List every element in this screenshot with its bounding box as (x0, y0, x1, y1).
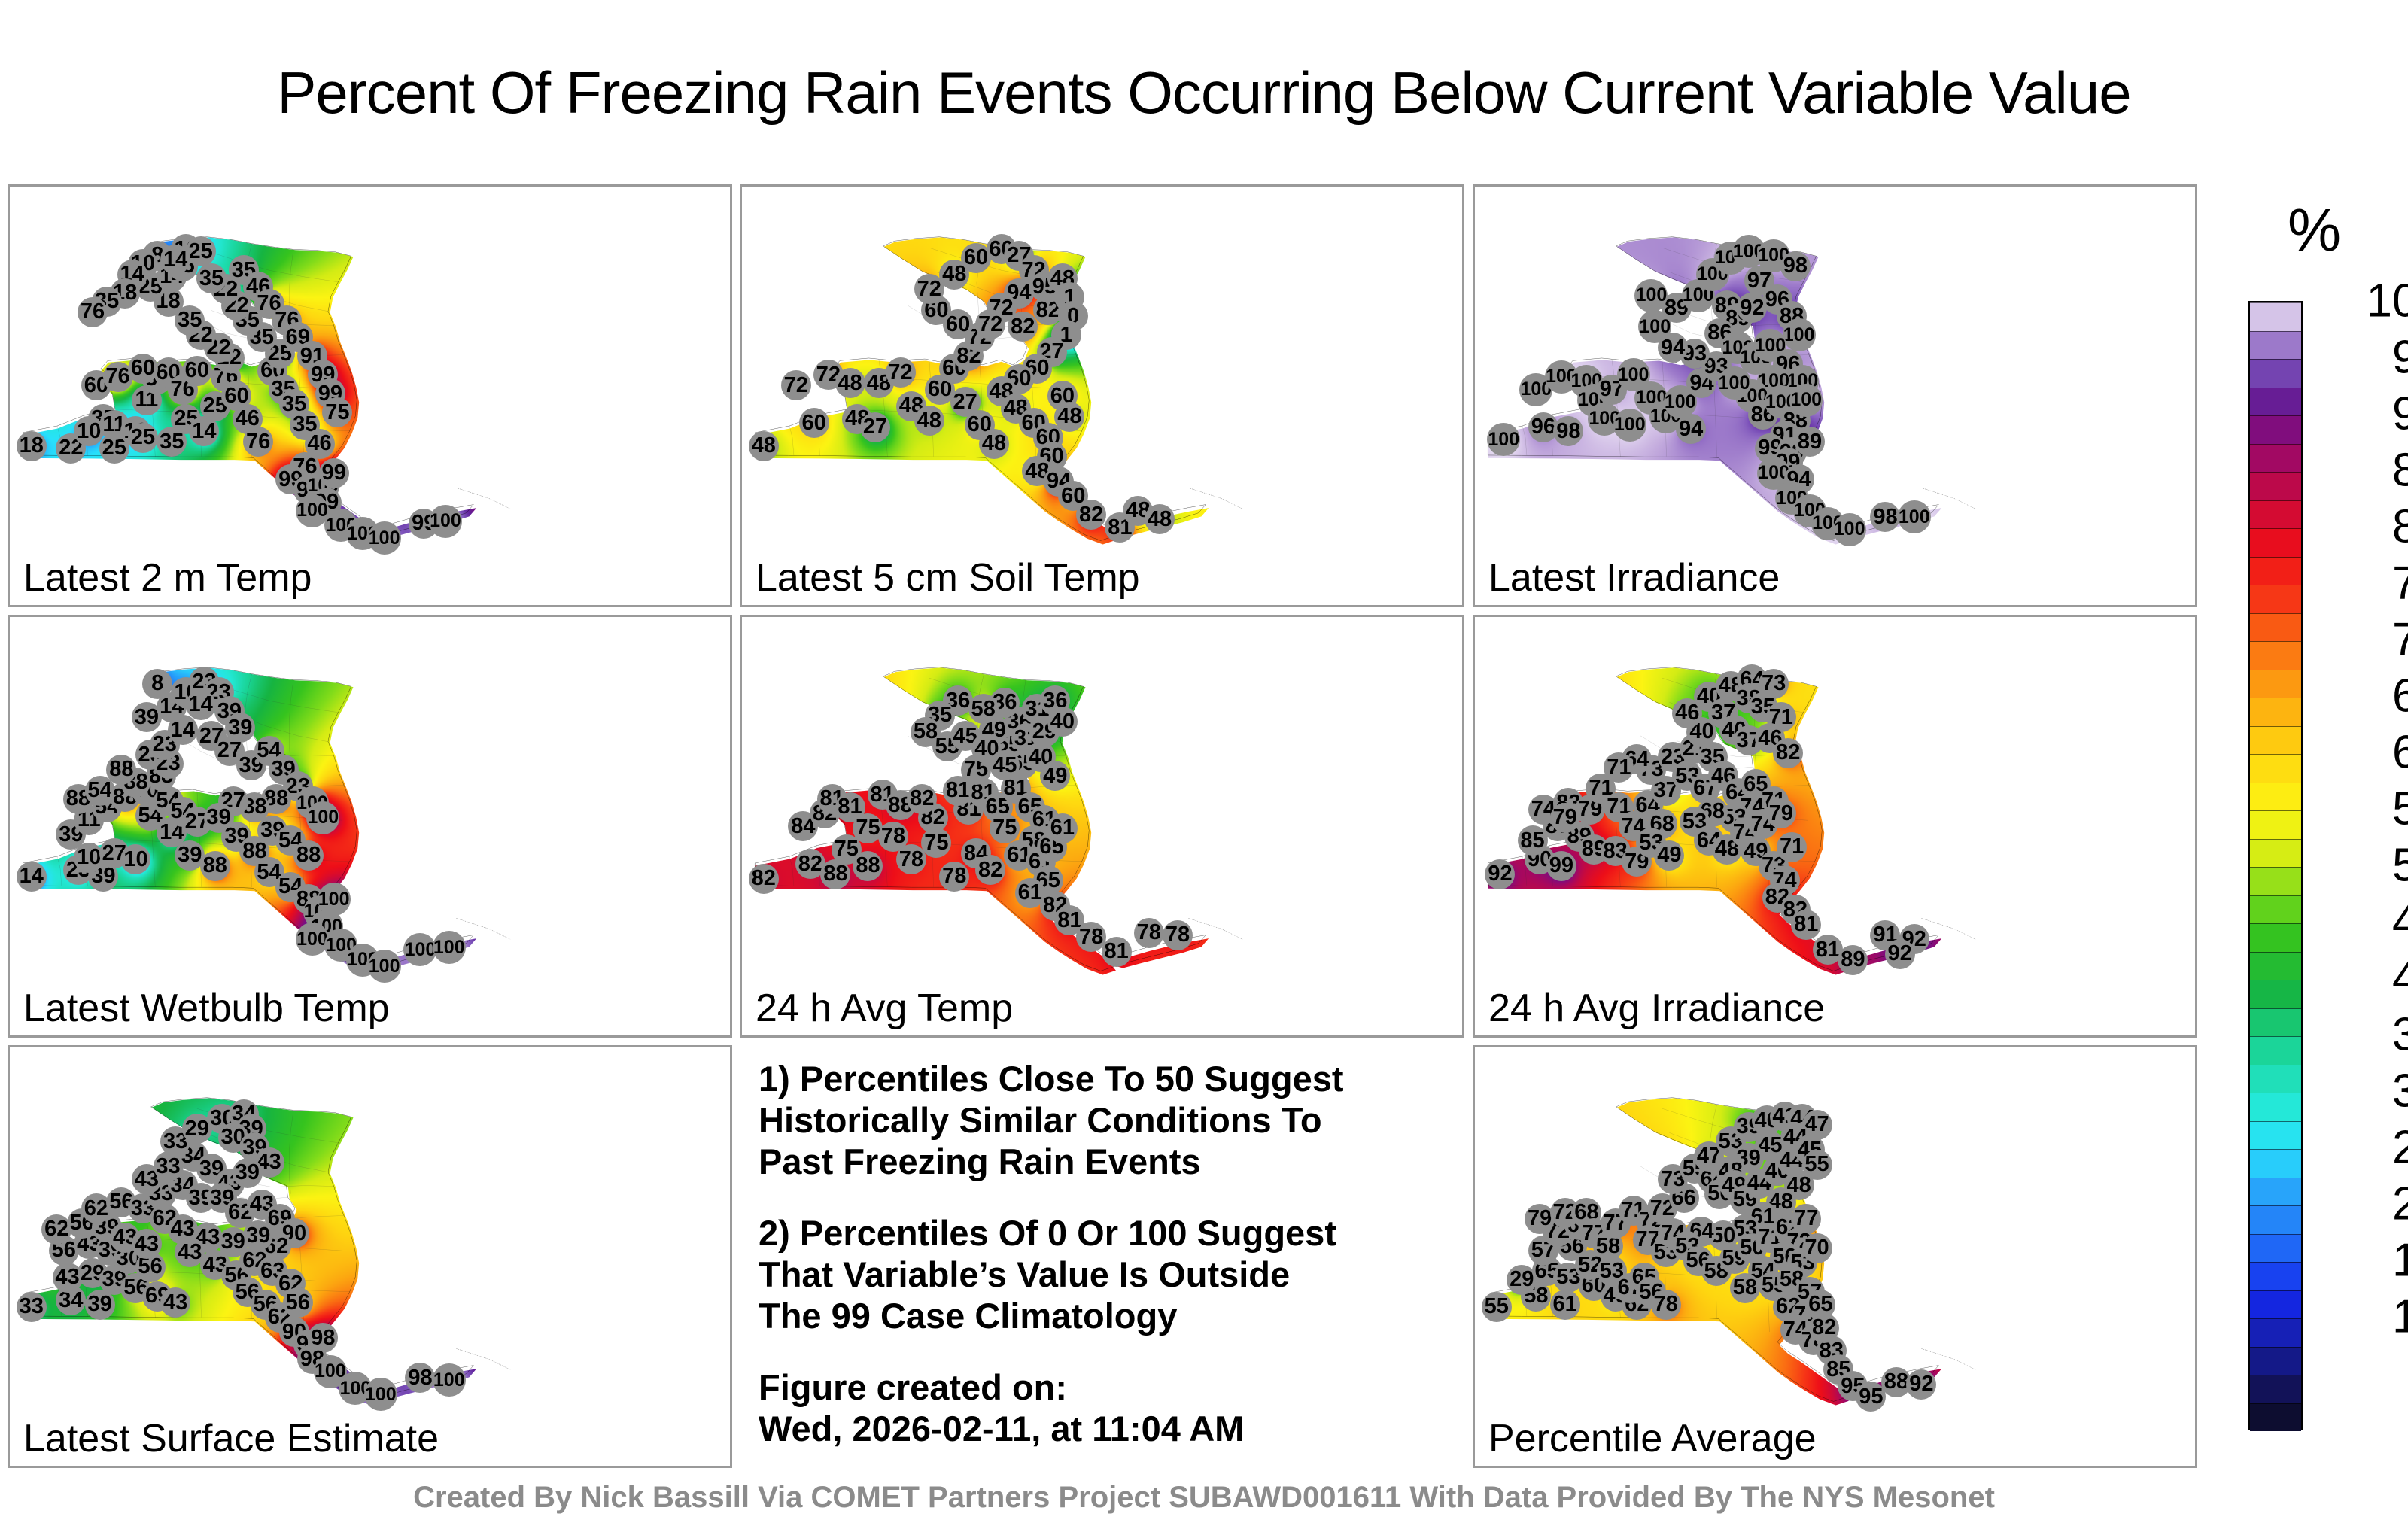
map-panel-percentile-average: 5558612965536049625756726379726877585253… (1473, 1045, 2197, 1468)
map-panel-latest-irradiance: 1009698100100100100100100971001001001009… (1473, 184, 2197, 607)
colorbar-segment (2250, 810, 2301, 839)
state-outline (742, 617, 1462, 1035)
colorbar-segment (2250, 1234, 2301, 1263)
colorbar-segment (2250, 472, 2301, 500)
colorbar-segment (2250, 1121, 2301, 1150)
station-marker: 79 (1766, 798, 1796, 828)
colorbar-tick-labels: 1009590858075706560555045403530252015105… (2316, 301, 2408, 1430)
station-marker: 100 (1833, 513, 1866, 546)
figure-created-label: Figure created on: (759, 1367, 1453, 1409)
station-marker: 78 (896, 844, 926, 874)
station-marker: 48 (979, 429, 1009, 459)
station-marker: 82 (975, 855, 1005, 885)
station-marker: 100 (433, 1363, 466, 1397)
station-marker: 75 (322, 397, 352, 427)
station-marker: 43 (160, 1287, 190, 1318)
colorbar-segment (2250, 1065, 2301, 1093)
station-marker: 56 (283, 1287, 313, 1318)
station-marker: 60 (799, 408, 829, 438)
colorbar-tick: 0 (2316, 1403, 2408, 1457)
station-marker: 100 (1634, 279, 1668, 312)
colorbar-segment (2250, 783, 2301, 811)
colorbar-segment (2250, 528, 2301, 557)
colorbar-segment (2250, 1149, 2301, 1178)
attribution-footer: Created By Nick Bassill Via COMET Partne… (0, 1481, 2408, 1515)
station-marker: 100 (1613, 409, 1646, 442)
colorbar-segment (2250, 1375, 2301, 1403)
colorbar-segment (2250, 698, 2301, 726)
colorbar-segment (2250, 641, 2301, 670)
colorbar-segment (2250, 980, 2301, 1008)
station-marker: 71 (1604, 752, 1634, 783)
colorbar-segment (2250, 754, 2301, 783)
colorbar-segment (2250, 500, 2301, 529)
station-marker: 78 (939, 862, 969, 892)
station-marker: 48 (1145, 504, 1175, 534)
station-marker: 79 (1550, 803, 1580, 833)
colorbar-segment (2250, 1262, 2301, 1290)
note2-line2: That Variable’s Value Is Outside (759, 1254, 1453, 1296)
station-marker: 100 (429, 505, 462, 538)
colorbar-segment (2250, 388, 2301, 416)
station-marker: 100 (368, 950, 401, 983)
colorbar-tick: 75 (2316, 557, 2408, 610)
station-marker: 75 (921, 828, 951, 858)
station-marker: 14 (17, 862, 47, 892)
station-marker: 14 (186, 690, 216, 720)
colorbar-segment (2250, 1290, 2301, 1319)
colorbar-segment (2250, 444, 2301, 473)
station-marker: 61 (1047, 813, 1078, 843)
station-marker: 10 (120, 844, 150, 874)
station-marker: 61 (1550, 1290, 1580, 1320)
station-marker: 60 (182, 356, 212, 386)
colorbar-segment (2250, 1093, 2301, 1121)
station-marker: 45 (990, 750, 1020, 780)
station-marker: 92 (1906, 1369, 1936, 1400)
station-marker: 100 (433, 931, 466, 964)
station-marker: 72 (975, 309, 1005, 339)
station-marker: 88 (853, 851, 883, 881)
colorbar-tick: 15 (2316, 1234, 2408, 1287)
station-marker: 78 (1651, 1290, 1681, 1320)
colorbar-segment (2250, 1178, 2301, 1206)
station-marker: 99 (1546, 851, 1576, 881)
station-marker: 100 (1783, 318, 1816, 351)
station-marker: 98 (1780, 251, 1811, 281)
colorbar-segment (2250, 1403, 2301, 1432)
colorbar-segment (2250, 952, 2301, 980)
colorbar-tick: 30 (2316, 1065, 2408, 1118)
station-marker: 100 (364, 1378, 397, 1411)
colorbar-segment (2250, 895, 2301, 924)
station-marker: 71 (1777, 832, 1807, 862)
panel-label: 24 h Avg Irradiance (1488, 986, 1825, 1031)
colorbar-tick: 20 (2316, 1178, 2408, 1231)
figure-created-timestamp: Wed, 2026-02-11, at 11:04 AM (759, 1409, 1453, 1450)
station-marker: 98 (1870, 502, 1900, 532)
colorbar-tick: 45 (2316, 895, 2408, 949)
colorbar-segment (2250, 331, 2301, 360)
colorbar-tick: 80 (2316, 500, 2408, 554)
station-marker: 43 (132, 1229, 162, 1259)
panel-label: Percentile Average (1488, 1416, 1817, 1461)
station-marker: 72 (781, 370, 811, 400)
station-marker: 92 (1885, 939, 1915, 969)
station-marker: 100 (296, 494, 329, 527)
panel-label: Latest 2 m Temp (23, 555, 312, 600)
station-marker: 81 (1791, 910, 1821, 940)
colorbar-tick: 95 (2316, 331, 2408, 385)
station-marker: 100 (1487, 423, 1520, 456)
station-marker: 49 (1654, 840, 1684, 871)
station-marker: 55 (1482, 1292, 1512, 1322)
station-marker: 76 (78, 297, 108, 327)
station-marker: 60 (128, 354, 158, 384)
station-marker: 92 (1737, 293, 1767, 323)
colorbar-segment (2250, 1318, 2301, 1347)
station-marker: 58 (1730, 1273, 1760, 1303)
station-marker: 82 (1773, 738, 1803, 768)
station-marker: 18 (17, 431, 47, 461)
colorbar-tick: 5 (2316, 1347, 2408, 1400)
colorbar-segment (2250, 867, 2301, 895)
station-marker: 94 (1676, 414, 1706, 444)
station-marker: 78 (1163, 920, 1193, 950)
note2-line1: 2) Percentiles Of 0 Or 100 Suggest (759, 1213, 1453, 1254)
colorbar-segment (2250, 1205, 2301, 1234)
station-marker: 98 (405, 1363, 435, 1393)
colorbar-tick: 100 (2316, 275, 2408, 328)
station-marker: 92 (1485, 859, 1515, 889)
station-marker: 14 (160, 245, 190, 275)
station-marker: 40 (1047, 707, 1078, 737)
colorbar-tick: 65 (2316, 670, 2408, 723)
colorbar-segment (2250, 726, 2301, 755)
colorbar-tick: 50 (2316, 839, 2408, 892)
station-marker: 81 (1102, 937, 1132, 967)
station-marker: 100 (306, 801, 339, 834)
station-marker: 82 (1809, 1313, 1839, 1343)
map-panel-latest-5-cm-soil-temp: 4860727248482748724848606027604882726060… (740, 184, 1464, 607)
station-marker: 39 (233, 1158, 263, 1188)
map-panel-latest-2-m-temp: 1835222510111060762535113560766025142576… (8, 184, 732, 607)
station-marker: 100 (1789, 384, 1823, 417)
station-marker: 70 (1802, 1233, 1832, 1263)
station-marker: 25 (128, 423, 158, 453)
panel-label: Latest Wetbulb Temp (23, 986, 390, 1031)
station-marker: 8 (142, 669, 172, 699)
colorbar-segment (2250, 923, 2301, 952)
panel-label: Latest Irradiance (1488, 555, 1780, 600)
colorbar-segment (2250, 1347, 2301, 1375)
station-marker: 100 (1898, 500, 1931, 533)
colorbar-tick: 10 (2316, 1290, 2408, 1344)
colorbar-segment (2250, 1036, 2301, 1065)
map-panel-24-h-avg-irradiance: 9290998587898974837979717183797464685349… (1473, 615, 2197, 1038)
colorbar-tick: 25 (2316, 1121, 2408, 1175)
station-marker: 48 (1054, 402, 1084, 432)
station-marker: 33 (17, 1292, 47, 1322)
station-marker: 48 (749, 431, 779, 461)
colorbar-segment (2250, 839, 2301, 868)
colorbar-tick: 35 (2316, 1008, 2408, 1062)
station-marker: 82 (1008, 312, 1038, 342)
station-marker: 100 (1718, 366, 1751, 400)
map-panel-24-h-avg-temp: 8282888482818175758881887878828275788181… (740, 615, 1464, 1038)
colorbar-segment (2250, 613, 2301, 642)
station-marker: 75 (990, 813, 1020, 843)
station-marker: 48 (914, 406, 944, 436)
panel-label: Latest 5 cm Soil Temp (756, 555, 1140, 600)
station-marker: 27 (860, 412, 890, 442)
station-marker: 100 (403, 933, 436, 966)
colorbar-segment (2250, 415, 2301, 444)
map-panel-latest-wetbulb-temp: 1423391027103911548854887054143988545427… (8, 615, 732, 1038)
colorbar (2248, 301, 2303, 1430)
note1-line3: Past Freezing Rain Events (759, 1141, 1453, 1183)
choropleth-field (742, 617, 1462, 1035)
panel-label: 24 h Avg Temp (756, 986, 1013, 1031)
colorbar-tick: 40 (2316, 952, 2408, 1005)
note2-line3: The 99 Case Climatology (759, 1296, 1453, 1337)
page-title: Percent Of Freezing Rain Events Occurrin… (0, 59, 2408, 127)
colorbar-tick: 85 (2316, 444, 2408, 497)
colorbar-segment (2250, 359, 2301, 388)
station-marker: 49 (1040, 761, 1070, 791)
colorbar-tick: 55 (2316, 783, 2408, 836)
colorbar-tick: 70 (2316, 613, 2408, 667)
station-marker: 88 (293, 840, 324, 871)
colorbar-unit-label: % (2288, 196, 2341, 265)
colorbar-segment (2250, 302, 2301, 331)
explanatory-notes-panel: 1) Percentiles Close To 50 Suggest Histo… (759, 1059, 1453, 1450)
note1-line2: Historically Similar Conditions To (759, 1100, 1453, 1141)
station-marker: 82 (1076, 500, 1106, 530)
station-marker: 88 (200, 851, 230, 881)
colorbar-segment (2250, 585, 2301, 613)
station-marker: 88 (106, 755, 136, 785)
colorbar-tick: 60 (2316, 726, 2408, 780)
station-marker: 78 (1134, 918, 1164, 948)
station-marker: 72 (886, 357, 916, 388)
colorbar-segment (2250, 557, 2301, 585)
colorbar-segment (2250, 670, 2301, 698)
station-marker: 35 (196, 263, 227, 293)
note1-line1: 1) Percentiles Close To 50 Suggest (759, 1059, 1453, 1100)
station-marker: 82 (749, 864, 779, 894)
map-panel-latest-surface-estimate: 3334394329395669435643393056625639434362… (8, 1045, 732, 1468)
station-marker: 100 (296, 923, 329, 956)
station-marker: 98 (1553, 416, 1583, 446)
colorbar-tick: 90 (2316, 388, 2408, 441)
station-marker: 100 (368, 521, 401, 555)
station-marker: 82 (907, 784, 937, 814)
station-marker: 76 (243, 427, 273, 457)
station-marker: 48 (835, 368, 865, 398)
colorbar-segment (2250, 1008, 2301, 1037)
station-marker: 89 (1838, 945, 1868, 975)
station-marker: 99 (319, 458, 349, 488)
panel-label: Latest Surface Estimate (23, 1416, 439, 1461)
